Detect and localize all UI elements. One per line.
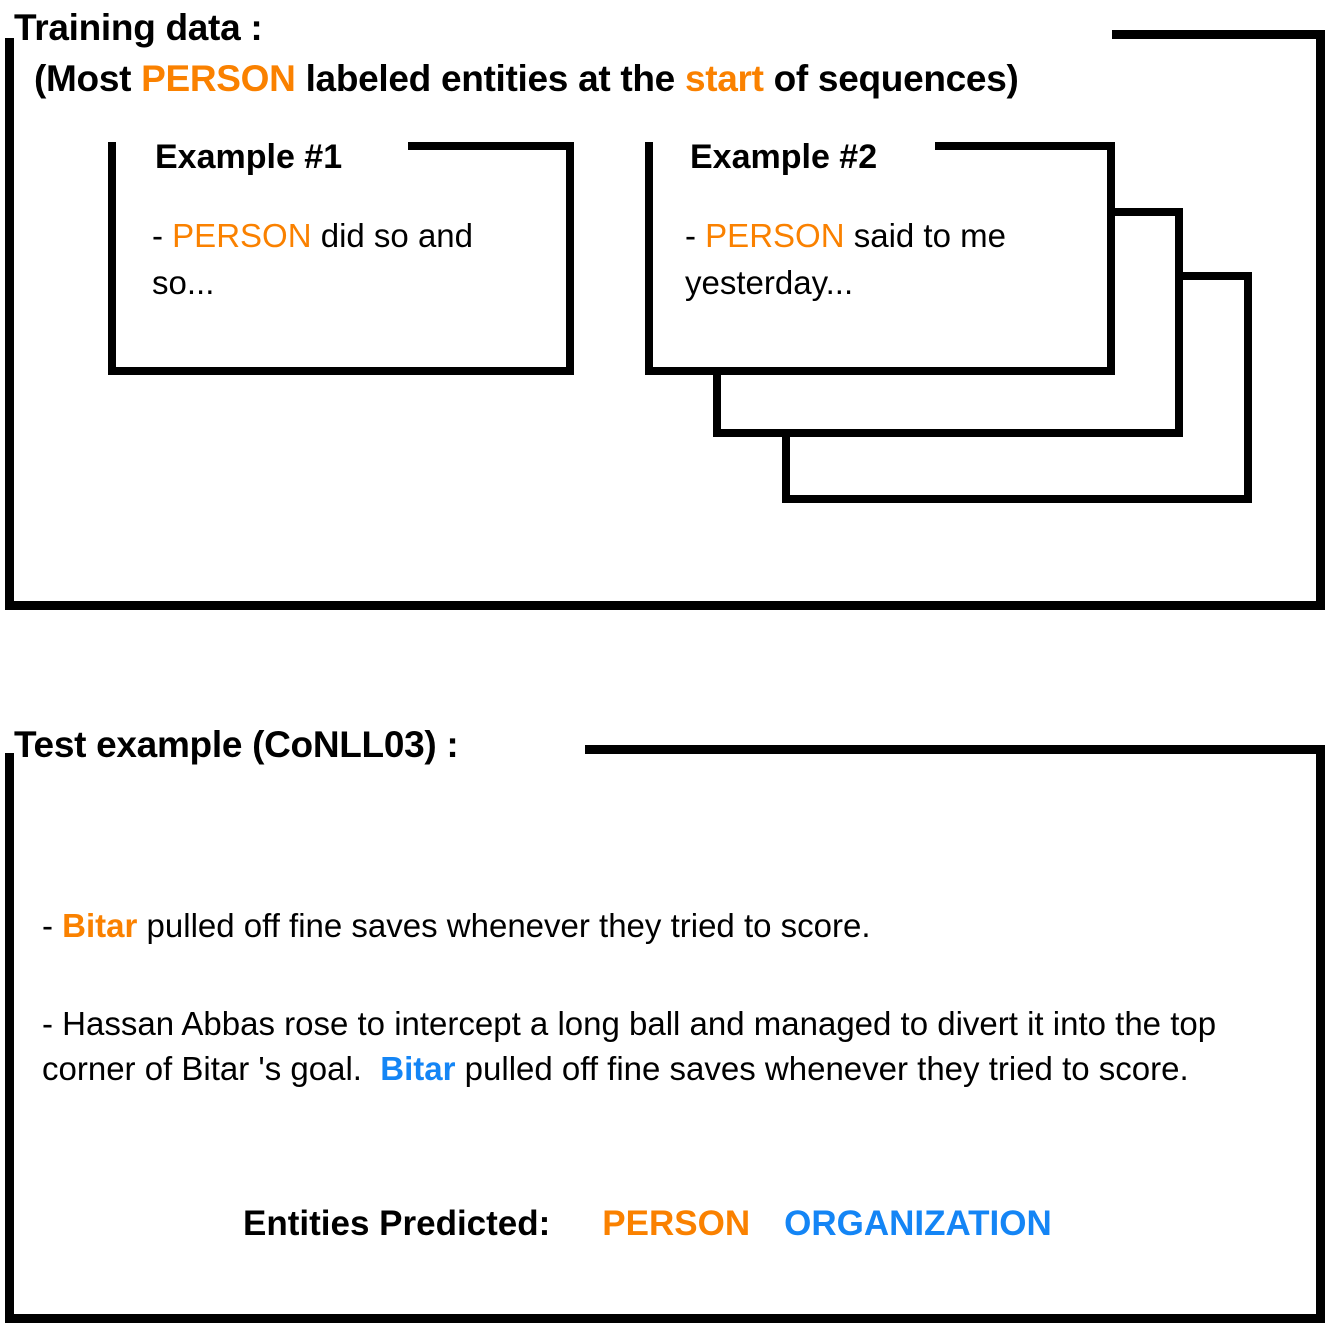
test-panel-border-top: [585, 745, 1325, 754]
test-panel-border-right: [1316, 745, 1325, 1323]
test-panel-border-bottom: [5, 1314, 1325, 1323]
example-2-title-text: Example #2: [690, 138, 877, 176]
example-1-border-right: [566, 142, 574, 375]
example-2-stack-back-border-right: [1244, 272, 1252, 503]
test-panel-border-left: [5, 753, 14, 1323]
example-1-body: - PERSON did so and so...: [152, 212, 512, 306]
example-1-prefix: -: [152, 217, 172, 254]
subtitle-start-keyword: start: [685, 58, 764, 99]
example-2-border-top: [935, 142, 1115, 150]
test-sentence-1: - Bitar pulled off fine saves whenever t…: [42, 903, 1282, 948]
example-2-border-bottom: [645, 367, 1115, 375]
example-2-body: - PERSON said to me yesterday...: [685, 212, 1065, 306]
training-panel-border-left: [5, 38, 14, 610]
example-2-prefix: -: [685, 217, 705, 254]
test-panel-title-text: Test example (CoNLL03) :: [14, 724, 458, 765]
example-2-stack-middle-border-bottom: [713, 429, 1183, 437]
test-panel-title: Test example (CoNLL03) :: [14, 723, 458, 767]
entities-predicted-row: Entities Predicted:PERSONORGANIZATION: [243, 1204, 1052, 1244]
test-sentence-1-entity: Bitar: [62, 907, 137, 944]
training-panel-border-top: [1112, 30, 1325, 39]
training-panel-border-right: [1316, 30, 1325, 610]
example-2-entity: PERSON: [705, 217, 844, 254]
example-2-title: Example #2: [690, 138, 877, 176]
example-2-stack-back-border-bottom: [782, 495, 1252, 503]
example-2-border-left: [645, 142, 653, 375]
entity-badge-organization: ORGANIZATION: [784, 1204, 1052, 1243]
test-sentence-1-rest: pulled off fine saves whenever they trie…: [137, 907, 870, 944]
example-1-border-top: [408, 142, 574, 150]
example-1-title-text: Example #1: [155, 138, 342, 176]
example-1-border-bottom: [108, 367, 574, 375]
subtitle-middle: labeled entities at the: [296, 58, 685, 99]
example-2-border-right: [1107, 142, 1115, 375]
entities-predicted-label: Entities Predicted:: [243, 1204, 550, 1243]
test-sentence-2: - Hassan Abbas rose to intercept a long …: [42, 1001, 1290, 1091]
subtitle-suffix: of sequences): [764, 58, 1019, 99]
example-1-title: Example #1: [155, 138, 342, 176]
subtitle-prefix: (Most: [34, 58, 141, 99]
training-panel-title-text: Training data :: [14, 7, 262, 48]
example-2-stack-middle-border-right: [1175, 208, 1183, 437]
test-sentence-2-part2: pulled off fine saves whenever they trie…: [455, 1050, 1188, 1087]
example-1-entity: PERSON: [172, 217, 311, 254]
subtitle-person-entity: PERSON: [141, 58, 295, 99]
entity-badge-person: PERSON: [602, 1204, 750, 1243]
training-panel-border-bottom: [5, 601, 1325, 610]
training-panel-subtitle: (Most PERSON labeled entities at the sta…: [34, 57, 1019, 101]
test-sentence-1-prefix: -: [42, 907, 62, 944]
training-panel-title: Training data :: [14, 6, 262, 50]
example-1-border-left: [108, 142, 116, 375]
test-sentence-2-entity: Bitar: [380, 1050, 455, 1087]
